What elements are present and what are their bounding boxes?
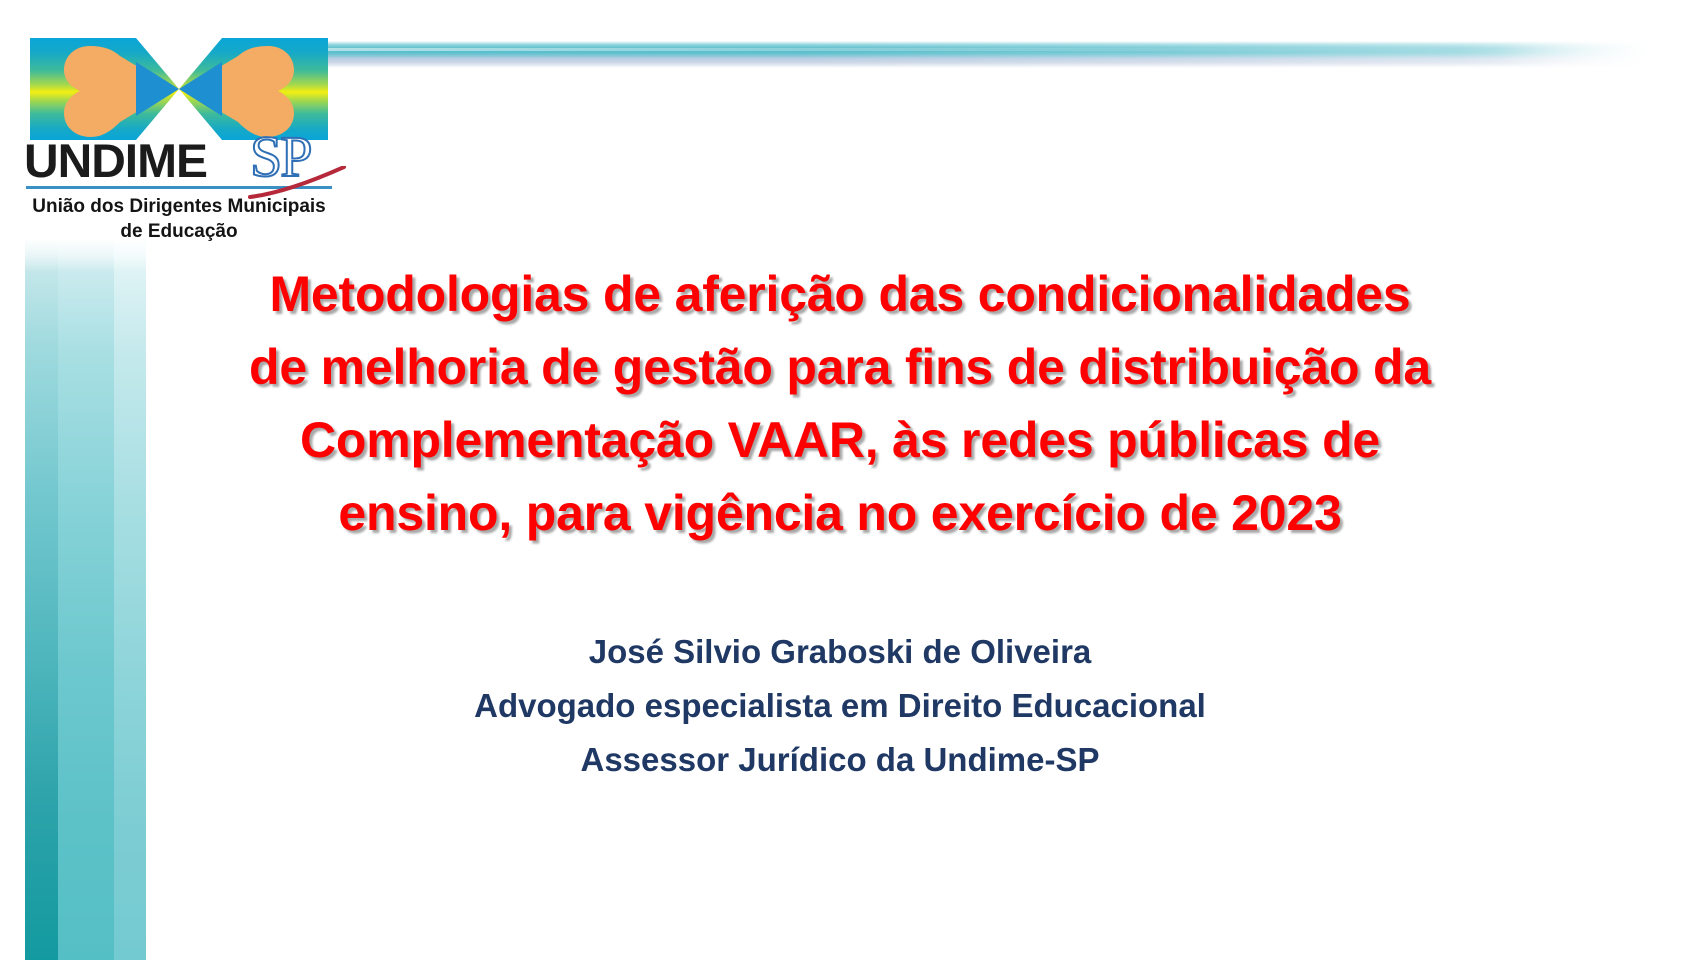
left-decorative-bars xyxy=(0,238,170,960)
undime-sp-logo: UNDIME SP União dos Dirigentes Municipai… xyxy=(18,38,340,238)
top-decorative-bar xyxy=(325,41,1660,68)
title-line-3: Complementação VAAR, às redes públicas d… xyxy=(190,404,1490,477)
logo-wordmark: UNDIME SP xyxy=(18,136,340,188)
logo-undime-text: UNDIME xyxy=(24,136,207,186)
slide-title: Metodologias de aferição das condicional… xyxy=(190,258,1490,550)
logo-tagline: União dos Dirigentes Municipais de Educa… xyxy=(18,194,340,244)
logo-tagline-line-1: União dos Dirigentes Municipais xyxy=(32,196,326,217)
presentation-slide: UNDIME SP União dos Dirigentes Municipai… xyxy=(0,0,1707,960)
title-line-1: Metodologias de aferição das condicional… xyxy=(190,258,1490,331)
top-bar-fade xyxy=(325,41,1660,68)
left-bar-stripe-left xyxy=(25,238,58,960)
title-line-4: ensino, para vigência no exercício de 20… xyxy=(190,477,1490,550)
left-bar-stripe-right xyxy=(113,238,146,960)
subtitle-author-affiliation: Assessor Jurídico da Undime-SP xyxy=(190,733,1490,787)
title-line-2: de melhoria de gestão para fins de distr… xyxy=(190,331,1490,404)
logo-tagline-line-2: de Educação xyxy=(120,221,237,242)
subtitle-author-name: José Silvio Graboski de Oliveira xyxy=(190,625,1490,679)
left-bar-stripe-middle xyxy=(57,238,114,960)
slide-subtitle: José Silvio Graboski de Oliveira Advogad… xyxy=(190,625,1490,787)
subtitle-author-role: Advogado especialista em Direito Educaci… xyxy=(190,679,1490,733)
